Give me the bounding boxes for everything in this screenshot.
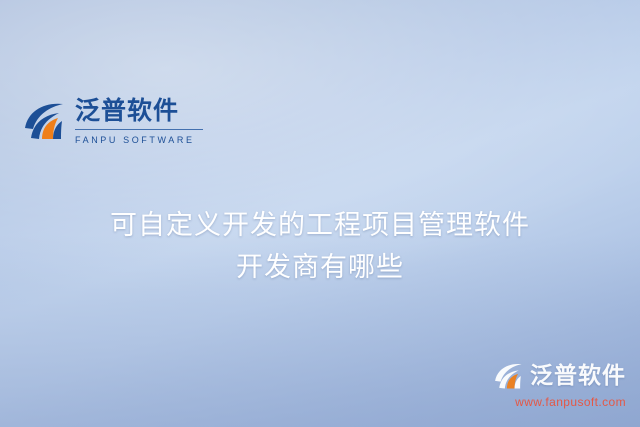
headline: 可自定义开发的工程项目管理软件 开发商有哪些 [0, 205, 640, 289]
poster-canvas: 泛普软件 FANPU SOFTWARE 可自定义开发的工程项目管理软件 开发商有… [0, 0, 640, 427]
brand-logo-text: 泛普软件 FANPU SOFTWARE [75, 96, 203, 146]
headline-line-1: 可自定义开发的工程项目管理软件 [0, 205, 640, 247]
watermark-logo-row: 泛普软件 [493, 360, 626, 392]
brand-name-cn: 泛普软件 [75, 96, 203, 126]
watermark-brand-name: 泛普软件 [530, 363, 626, 389]
fanpu-swoosh-logo-icon [22, 98, 68, 144]
brand-logo-divider [75, 129, 203, 130]
brand-name-en: FANPU SOFTWARE [75, 134, 203, 146]
watermark-url: www.fanpusoft.com [515, 395, 626, 409]
brand-logo: 泛普软件 FANPU SOFTWARE [22, 96, 203, 146]
watermark: 泛普软件 www.fanpusoft.com [493, 360, 626, 409]
fanpu-swoosh-logo-icon [493, 360, 525, 392]
headline-line-2: 开发商有哪些 [0, 247, 640, 289]
